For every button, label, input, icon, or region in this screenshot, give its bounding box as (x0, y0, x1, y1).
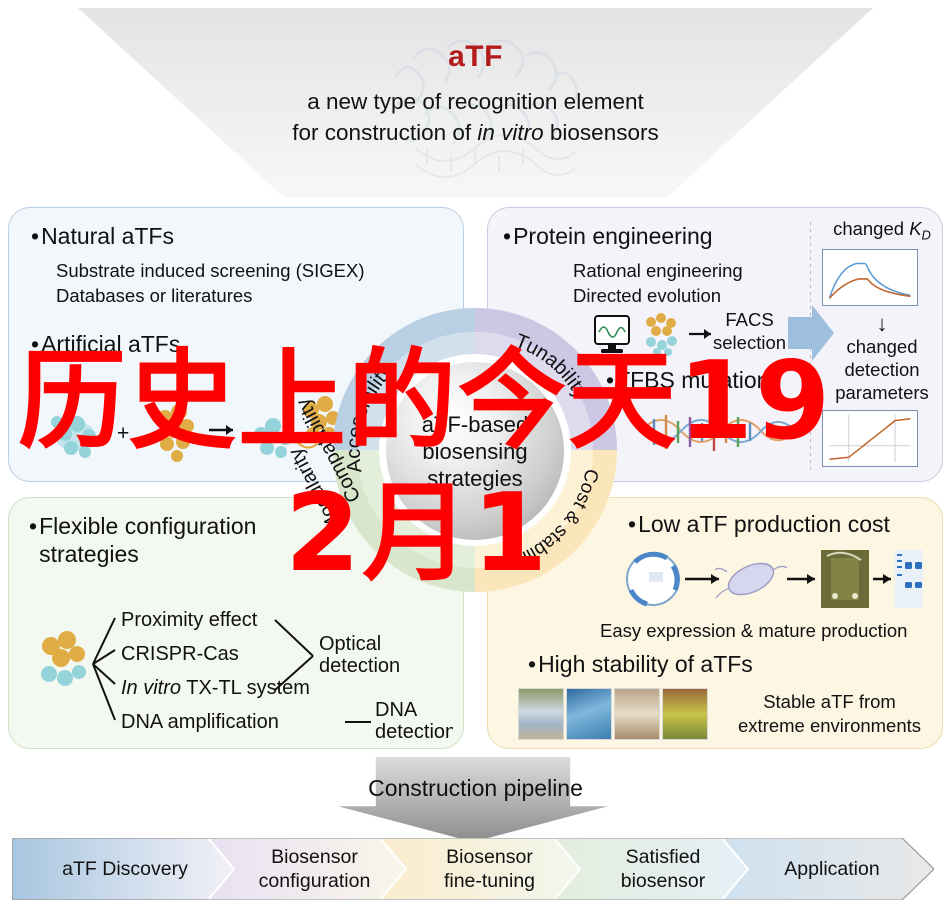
facs-line-1: FACS (713, 308, 786, 331)
wheel-core-line-1: aTF-based (422, 411, 528, 438)
subtitle-post: biosensors (544, 120, 659, 145)
env-photo-saltflat (614, 688, 660, 740)
bullet-high-stability: • High stability of aTFs (528, 650, 753, 678)
down-arrow-icon: ↓ (822, 313, 942, 335)
pipeline-step-5[interactable]: Application (752, 838, 912, 900)
plus-symbol: + (117, 422, 129, 445)
subtitle-italic: in vitro (477, 120, 543, 145)
sub-sigex: Substrate induced screening (SIGEX) (56, 258, 365, 283)
stable-line-2: extreme environments (738, 714, 921, 738)
pipeline-step-2-line-1: Biosensor (259, 845, 371, 869)
branch-dna-amplification: DNA amplification (121, 711, 279, 733)
stable-atf-caption: Stable aTF from extreme environments (738, 690, 921, 738)
graphical-abstract: aTF a new type of recognition element fo… (0, 0, 951, 914)
kd-result-line-1: changed (822, 335, 942, 358)
pipeline-step-2-line-2: configuration (259, 869, 371, 893)
branch-proximity-effect: Proximity effect (121, 609, 258, 631)
pipeline-step-1-line-1: aTF Discovery (62, 857, 188, 881)
bullet-tfbs-mutation-label: TFBS mutation (616, 366, 769, 394)
sub-databases: Databases or literatures (56, 283, 365, 308)
branch-crispr-cas: CRISPR-Cas (121, 643, 239, 665)
kd-result-line-3: parameters (822, 381, 942, 404)
bullet-natural-atfs: • Natural aTFs (31, 222, 174, 250)
bullet-dot-icon: • (29, 512, 37, 540)
title-block: aTF a new type of recognition element fo… (0, 40, 951, 148)
bullet-natural-atfs-label: Natural aTFs (41, 222, 174, 250)
env-photo-ice (566, 688, 612, 740)
kd-result-line-2: detection (822, 358, 942, 381)
bullet-low-production-cost: • Low aTF production cost (628, 510, 890, 538)
branch-in-vitro-txtl: In vitro TX-TL system (121, 677, 310, 699)
facs-line-2: selection (713, 331, 786, 354)
bullet-high-stability-label: High stability of aTFs (538, 650, 753, 678)
binding-curve-plot (822, 249, 918, 306)
detection-strategy-tree: Proximity effect CRISPR-Cas In vitro TX-… (23, 594, 453, 739)
pipeline-step-4-line-2: biosensor (621, 869, 706, 893)
subtitle-line-1: a new type of recognition element (0, 86, 951, 117)
subtitle-pre: for construction of (292, 120, 477, 145)
bullet-dot-icon: • (528, 650, 536, 678)
bullet-artificial-atfs-label: Artificial aTFs (41, 330, 180, 358)
bullet-protein-engineering: • Protein engineering (503, 222, 713, 250)
output-dna-detection: DNA (375, 699, 418, 721)
kd-result-column: changed KD ↓ changed detection parameter… (822, 218, 942, 472)
pipeline-step-4[interactable]: Satisfied biosensor (578, 838, 748, 900)
dose-response-plot (822, 410, 918, 467)
stable-line-1: Stable aTF from (738, 690, 921, 714)
production-workflow-illustration (623, 546, 923, 612)
page-title: aTF (0, 40, 951, 74)
facs-selection-label: FACS selection (713, 308, 786, 354)
extreme-environment-photos (518, 688, 713, 740)
pipeline-step-5-line-1: Application (784, 857, 879, 881)
bullet-tfbs-mutation: • TFBS mutation (606, 366, 769, 394)
svg-text:detection: detection (375, 721, 453, 739)
pipeline-step-3[interactable]: Biosensor fine-tuning (402, 838, 577, 900)
output-optical-detection: Optical (319, 633, 381, 655)
changed-kd-label: changed KD (822, 218, 942, 243)
pipeline-step-3-line-1: Biosensor (444, 845, 535, 869)
svg-text:detection: detection (319, 655, 400, 677)
accessibility-sublines: Substrate induced screening (SIGEX) Data… (56, 258, 365, 308)
bullet-low-production-cost-label: Low aTF production cost (638, 510, 890, 538)
bullet-artificial-atfs: • Artificial aTFs (31, 330, 180, 358)
wheel-core-line-2: biosensing (422, 438, 528, 465)
wheel-core: aTF-based biosensing strategies (386, 362, 564, 540)
subtitle: a new type of recognition element for co… (0, 86, 951, 148)
pipeline-step-4-line-1: Satisfied (621, 845, 706, 869)
pipeline-step-1[interactable]: aTF Discovery (20, 838, 230, 900)
sub-rational-engineering: Rational engineering (573, 258, 743, 283)
env-photo-acidlake (662, 688, 708, 740)
bullet-dot-icon: • (31, 222, 39, 250)
bullet-protein-engineering-label: Protein engineering (513, 222, 712, 250)
bullet-flexible-configuration: • Flexible configuration strategies (29, 512, 329, 568)
wheel-core-line-3: strategies (422, 465, 528, 492)
pipeline-step-3-line-2: fine-tuning (444, 869, 535, 893)
bullet-dot-icon: • (503, 222, 511, 250)
construction-pipeline-heading: Construction pipeline (0, 775, 951, 802)
bullet-dot-icon: • (628, 510, 636, 538)
bullet-flexible-line-1: Flexible configuration (39, 513, 256, 539)
env-photo-hotspring (518, 688, 564, 740)
pipeline-step-2[interactable]: Biosensor configuration (227, 838, 402, 900)
sub-easy-expression: Easy expression & mature production (600, 618, 907, 643)
pipeline-chevron-bar: aTF Discovery Biosensor configuration Bi… (12, 838, 934, 900)
bullet-dot-icon: • (31, 330, 39, 358)
subtitle-line-2: for construction of in vitro biosensors (0, 117, 951, 148)
kd-result-text: changed detection parameters (822, 335, 942, 404)
bullet-flexible-line-2: strategies (39, 541, 139, 567)
dna-sequence-chromatogram-icon (636, 401, 796, 461)
